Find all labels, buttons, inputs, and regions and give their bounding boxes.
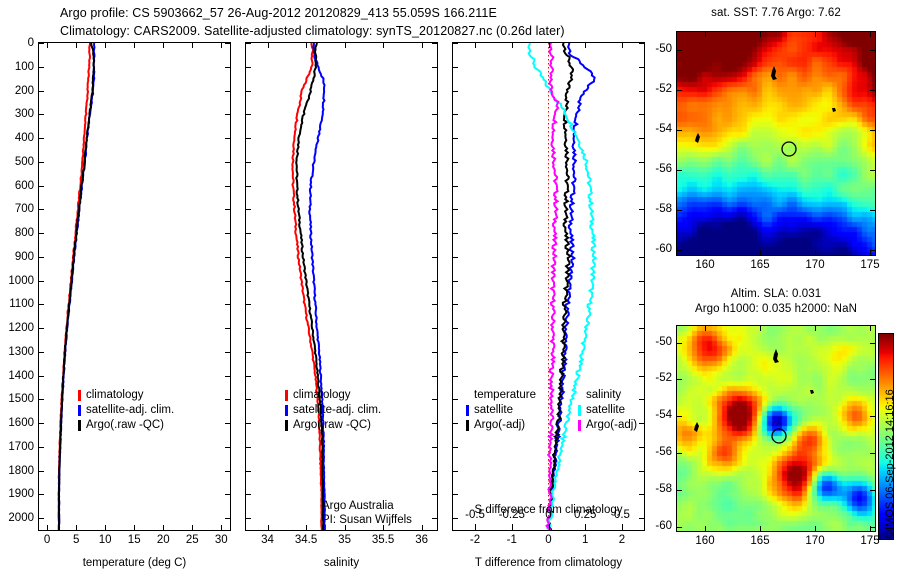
depth-tick bbox=[39, 471, 44, 472]
legend-label: climatology bbox=[293, 389, 351, 401]
sst-map-y-tick bbox=[677, 170, 682, 171]
sla-map-x-label: 170 bbox=[790, 535, 840, 547]
sla-map-x-tick bbox=[815, 326, 816, 331]
sla-map-x-tick bbox=[760, 526, 761, 531]
axis-tick-top bbox=[475, 43, 476, 48]
depth-tick bbox=[246, 114, 251, 115]
sst-map-y-tick bbox=[677, 210, 682, 211]
sst-map-y-label: -54 bbox=[644, 123, 672, 135]
depth-tick bbox=[453, 518, 458, 519]
sst-map-x-tick bbox=[815, 32, 816, 37]
depth-tick bbox=[246, 471, 251, 472]
sst-map-x-tick bbox=[705, 32, 706, 37]
depth-tick bbox=[432, 209, 437, 210]
axis-tick-top bbox=[105, 43, 106, 48]
depth-tick-label: 1800 bbox=[0, 465, 34, 477]
depth-tick bbox=[639, 494, 644, 495]
axis-tick-top bbox=[76, 43, 77, 48]
depth-tick-label: 100 bbox=[0, 61, 34, 73]
depth-tick bbox=[246, 423, 251, 424]
depth-tick bbox=[639, 304, 644, 305]
sla-map-y-label: -56 bbox=[644, 446, 672, 458]
depth-tick bbox=[432, 399, 437, 400]
depth-tick bbox=[432, 518, 437, 519]
figure-title-line1: Argo profile: CS 5903662_57 26-Aug-2012 … bbox=[60, 6, 497, 20]
salinity-axis-title: salinity bbox=[245, 558, 438, 569]
legend-label: Argo(.raw -QC) bbox=[86, 419, 164, 431]
depth-tick bbox=[453, 91, 458, 92]
depth-tick bbox=[453, 281, 458, 282]
depth-tick bbox=[246, 91, 251, 92]
legend-swatch bbox=[78, 420, 81, 431]
sla-map-y-tick bbox=[677, 453, 682, 454]
sla-map-y-tick bbox=[677, 343, 682, 344]
depth-tick bbox=[246, 209, 251, 210]
legend-swatch bbox=[285, 420, 288, 431]
sst-map-y-label: -56 bbox=[644, 163, 672, 175]
sst-map-y-label: -52 bbox=[644, 83, 672, 95]
depth-tick-label: 1500 bbox=[0, 393, 34, 405]
sst-map-y-tick bbox=[677, 250, 682, 251]
sla-map-x-tick bbox=[705, 526, 706, 531]
legend-header-salinity: salinity bbox=[586, 389, 621, 401]
depth-tick bbox=[453, 399, 458, 400]
depth-tick bbox=[453, 186, 458, 187]
legend-swatch bbox=[466, 420, 469, 431]
sla-map-y-tick bbox=[677, 527, 682, 528]
depth-tick bbox=[39, 494, 44, 495]
depth-tick bbox=[246, 43, 251, 44]
depth-tick bbox=[225, 328, 230, 329]
depth-tick bbox=[225, 447, 230, 448]
depth-tick bbox=[639, 423, 644, 424]
sst-map-y-tick bbox=[677, 50, 682, 51]
legend-label: Argo(-adj) bbox=[586, 419, 637, 431]
depth-tick bbox=[246, 304, 251, 305]
depth-tick-label: 0 bbox=[0, 37, 34, 49]
sst-map-y-label: -58 bbox=[644, 203, 672, 215]
depth-tick bbox=[639, 91, 644, 92]
legend-header-temperature: temperature bbox=[474, 389, 536, 401]
depth-tick bbox=[432, 471, 437, 472]
depth-tick bbox=[225, 304, 230, 305]
sst-map-x-label: 175 bbox=[845, 259, 895, 271]
series-temperature-climatology bbox=[59, 43, 91, 530]
temperature-profile-plot bbox=[39, 43, 230, 530]
sla-map-y-label: -52 bbox=[644, 372, 672, 384]
sla-map-y-tick bbox=[870, 379, 875, 380]
legend-label: satellite-adj. clim. bbox=[86, 404, 174, 416]
t-difference-axis-tick bbox=[475, 525, 476, 530]
depth-tick bbox=[246, 281, 251, 282]
legend-label: satellite bbox=[474, 404, 513, 416]
sla-map-y-tick bbox=[677, 379, 682, 380]
sla-map[interactable] bbox=[676, 325, 876, 532]
depth-tick bbox=[225, 257, 230, 258]
depth-tick bbox=[639, 281, 644, 282]
agency-label: Argo Australia bbox=[322, 500, 394, 512]
depth-tick bbox=[453, 328, 458, 329]
sst-map-x-tick bbox=[815, 250, 816, 255]
depth-tick bbox=[432, 162, 437, 163]
sst-map-x-label: 160 bbox=[680, 259, 730, 271]
depth-tick bbox=[39, 233, 44, 234]
depth-tick bbox=[225, 186, 230, 187]
depth-tick bbox=[246, 494, 251, 495]
axis-tick-top bbox=[422, 43, 423, 48]
depth-tick bbox=[432, 67, 437, 68]
depth-tick bbox=[453, 67, 458, 68]
axis-tick-top bbox=[622, 43, 623, 48]
depth-tick bbox=[453, 257, 458, 258]
depth-tick bbox=[225, 423, 230, 424]
depth-tick bbox=[639, 67, 644, 68]
depth-tick bbox=[432, 423, 437, 424]
t-difference-axis-label: 2 bbox=[592, 534, 652, 546]
depth-tick bbox=[39, 162, 44, 163]
depth-tick-label: 1700 bbox=[0, 441, 34, 453]
salinity-axis-label: 36 bbox=[392, 534, 452, 546]
depth-tick bbox=[432, 43, 437, 44]
depth-tick bbox=[453, 423, 458, 424]
sst-map-x-tick bbox=[870, 32, 871, 37]
legend-swatch bbox=[78, 390, 81, 401]
sst-map-x-label: 165 bbox=[735, 259, 785, 271]
sla-map-y-tick bbox=[677, 490, 682, 491]
legend-swatch bbox=[578, 405, 581, 416]
series-salinity-argo-raw-qc- bbox=[296, 43, 323, 530]
depth-tick bbox=[246, 376, 251, 377]
axis-tick-top bbox=[306, 43, 307, 48]
depth-tick bbox=[39, 257, 44, 258]
legend-label: satellite bbox=[586, 404, 625, 416]
axis-tick-top bbox=[47, 43, 48, 48]
depth-tick bbox=[39, 304, 44, 305]
depth-tick-label: 1100 bbox=[0, 298, 34, 310]
depth-tick bbox=[639, 471, 644, 472]
sla-map-x-tick bbox=[760, 326, 761, 331]
depth-tick bbox=[639, 257, 644, 258]
depth-tick bbox=[225, 471, 230, 472]
legend-swatch bbox=[78, 405, 81, 416]
depth-tick-label: 1400 bbox=[0, 370, 34, 382]
depth-tick bbox=[39, 399, 44, 400]
depth-tick bbox=[453, 304, 458, 305]
depth-tick bbox=[225, 518, 230, 519]
depth-tick bbox=[225, 494, 230, 495]
temperature-axis-tick bbox=[134, 525, 135, 530]
depth-tick-label: 600 bbox=[0, 180, 34, 192]
depth-tick bbox=[225, 209, 230, 210]
sst-map-y-tick bbox=[870, 170, 875, 171]
depth-tick bbox=[432, 138, 437, 139]
depth-tick bbox=[432, 186, 437, 187]
depth-tick bbox=[39, 352, 44, 353]
depth-tick bbox=[453, 447, 458, 448]
depth-tick bbox=[453, 114, 458, 115]
temperature-axis-tick bbox=[192, 525, 193, 530]
sla-map-x-label: 165 bbox=[735, 535, 785, 547]
depth-tick bbox=[639, 447, 644, 448]
t-difference-axis-tick bbox=[549, 525, 550, 530]
sst-map-y-label: -50 bbox=[644, 43, 672, 55]
depth-tick bbox=[639, 518, 644, 519]
temperature-axis-title: temperature (deg C) bbox=[38, 558, 231, 569]
sst-map-x-tick bbox=[760, 250, 761, 255]
salinity-axis-tick bbox=[268, 525, 269, 530]
depth-tick bbox=[453, 233, 458, 234]
depth-tick bbox=[639, 209, 644, 210]
sla-map-y-label: -60 bbox=[644, 520, 672, 532]
depth-tick bbox=[639, 399, 644, 400]
axis-tick-top bbox=[512, 43, 513, 48]
sst-map-title: sat. SST: 7.76 Argo: 7.62 bbox=[671, 7, 881, 19]
sst-map-y-tick bbox=[677, 90, 682, 91]
depth-tick-label: 200 bbox=[0, 85, 34, 97]
depth-tick bbox=[246, 447, 251, 448]
depth-tick bbox=[432, 91, 437, 92]
depth-tick-label: 1200 bbox=[0, 322, 34, 334]
depth-tick bbox=[432, 233, 437, 234]
legend-label: Argo(.raw -QC) bbox=[293, 419, 371, 431]
sst-map[interactable] bbox=[676, 31, 876, 256]
depth-tick bbox=[639, 162, 644, 163]
depth-tick bbox=[432, 376, 437, 377]
salinity-axis-tick bbox=[422, 525, 423, 530]
depth-tick-label: 1300 bbox=[0, 346, 34, 358]
depth-tick bbox=[39, 518, 44, 519]
difference-panel bbox=[452, 42, 645, 531]
legend-label: climatology bbox=[86, 389, 144, 401]
depth-tick bbox=[453, 376, 458, 377]
axis-tick-top bbox=[345, 43, 346, 48]
depth-tick bbox=[225, 162, 230, 163]
depth-tick bbox=[432, 494, 437, 495]
depth-tick bbox=[225, 114, 230, 115]
temperature-panel bbox=[38, 42, 231, 531]
sla-map-y-tick bbox=[870, 343, 875, 344]
depth-tick bbox=[225, 281, 230, 282]
depth-tick bbox=[225, 352, 230, 353]
legend-swatch bbox=[466, 405, 469, 416]
depth-tick bbox=[453, 138, 458, 139]
sla-map-x-tick bbox=[870, 326, 871, 331]
depth-tick bbox=[246, 328, 251, 329]
depth-tick bbox=[39, 447, 44, 448]
depth-tick bbox=[246, 399, 251, 400]
depth-tick bbox=[639, 138, 644, 139]
sst-map-canvas bbox=[677, 32, 876, 256]
depth-tick bbox=[432, 447, 437, 448]
legend-swatch bbox=[578, 420, 581, 431]
depth-tick bbox=[246, 233, 251, 234]
salinity-profile-plot bbox=[246, 43, 437, 530]
axis-tick-top bbox=[585, 43, 586, 48]
depth-tick bbox=[639, 328, 644, 329]
axis-tick-top bbox=[192, 43, 193, 48]
legend-label: Argo(-adj) bbox=[474, 419, 525, 431]
depth-tick-label: 800 bbox=[0, 227, 34, 239]
depth-tick-label: 300 bbox=[0, 108, 34, 120]
depth-tick bbox=[225, 67, 230, 68]
depth-tick bbox=[39, 114, 44, 115]
series-temperature-argo-raw-qc- bbox=[59, 43, 94, 530]
depth-tick bbox=[639, 43, 644, 44]
temperature-axis-tick bbox=[47, 525, 48, 530]
depth-tick-label: 700 bbox=[0, 203, 34, 215]
depth-tick bbox=[432, 114, 437, 115]
depth-tick bbox=[225, 43, 230, 44]
depth-tick bbox=[39, 138, 44, 139]
figure-title-line2: Climatology: CARS2009. Satellite-adjuste… bbox=[60, 24, 565, 38]
t-difference-axis-title: T difference from climatology bbox=[452, 558, 645, 569]
depth-tick bbox=[639, 186, 644, 187]
sst-map-y-tick bbox=[870, 210, 875, 211]
depth-tick bbox=[246, 138, 251, 139]
sst-map-y-tick bbox=[677, 130, 682, 131]
temperature-axis-tick bbox=[163, 525, 164, 530]
sst-map-y-tick bbox=[870, 90, 875, 91]
depth-tick bbox=[453, 162, 458, 163]
depth-tick bbox=[639, 233, 644, 234]
sst-map-y-tick bbox=[870, 130, 875, 131]
depth-tick bbox=[432, 257, 437, 258]
depth-tick bbox=[246, 186, 251, 187]
depth-tick bbox=[225, 91, 230, 92]
series-s-difference-satellite bbox=[528, 43, 595, 530]
sst-map-x-label: 170 bbox=[790, 259, 840, 271]
temperature-axis-tick bbox=[105, 525, 106, 530]
depth-tick bbox=[39, 376, 44, 377]
depth-tick-label: 1900 bbox=[0, 488, 34, 500]
sst-map-y-label: -60 bbox=[644, 243, 672, 255]
salinity-panel bbox=[245, 42, 438, 531]
depth-tick bbox=[225, 138, 230, 139]
sla-map-y-tick bbox=[870, 527, 875, 528]
salinity-axis-tick bbox=[306, 525, 307, 530]
depth-tick bbox=[246, 257, 251, 258]
t-difference-axis-tick bbox=[512, 525, 513, 530]
pi-label: PI: Susan Wijffels bbox=[322, 514, 412, 526]
sla-map-y-label: -58 bbox=[644, 483, 672, 495]
depth-tick bbox=[39, 423, 44, 424]
legend-label: satellite-adj. clim. bbox=[293, 404, 381, 416]
sla-map-title-line2: Argo h1000: 0.035 h2000: NaN bbox=[661, 303, 891, 315]
axis-tick-top bbox=[549, 43, 550, 48]
t-difference-axis-tick bbox=[622, 525, 623, 530]
temperature-axis-tick bbox=[76, 525, 77, 530]
legend-swatch bbox=[285, 405, 288, 416]
depth-tick bbox=[453, 471, 458, 472]
sla-map-y-tick bbox=[870, 416, 875, 417]
depth-tick bbox=[39, 67, 44, 68]
depth-tick-label: 900 bbox=[0, 251, 34, 263]
figure-root: Argo profile: CS 5903662_57 26-Aug-2012 … bbox=[0, 0, 900, 580]
depth-tick bbox=[432, 304, 437, 305]
depth-tick bbox=[39, 43, 44, 44]
depth-tick bbox=[39, 186, 44, 187]
axis-tick-top bbox=[134, 43, 135, 48]
depth-tick bbox=[432, 328, 437, 329]
depth-tick bbox=[39, 91, 44, 92]
sla-map-canvas bbox=[677, 326, 876, 532]
axis-tick-top bbox=[268, 43, 269, 48]
sla-map-y-label: -54 bbox=[644, 409, 672, 421]
sla-map-title-line1: Altim. SLA: 0.031 bbox=[671, 288, 881, 300]
depth-tick bbox=[432, 352, 437, 353]
depth-tick bbox=[432, 281, 437, 282]
axis-tick-top bbox=[163, 43, 164, 48]
sla-map-x-label: 160 bbox=[680, 535, 730, 547]
sst-map-y-tick bbox=[870, 250, 875, 251]
temperature-axis-tick bbox=[221, 525, 222, 530]
depth-tick-label: 2000 bbox=[0, 512, 34, 524]
depth-tick bbox=[639, 376, 644, 377]
depth-tick bbox=[39, 281, 44, 282]
depth-tick bbox=[453, 43, 458, 44]
depth-tick-label: 500 bbox=[0, 156, 34, 168]
sla-map-x-tick bbox=[815, 526, 816, 531]
depth-tick bbox=[453, 494, 458, 495]
credit-timestamp: ©IMOS 06-Sep-2012 14:16:16 bbox=[884, 389, 896, 538]
depth-tick bbox=[639, 114, 644, 115]
t-difference-axis-tick bbox=[585, 525, 586, 530]
sla-map-y-tick bbox=[677, 416, 682, 417]
depth-tick bbox=[225, 376, 230, 377]
sla-map-y-tick bbox=[870, 453, 875, 454]
sla-map-y-tick bbox=[870, 490, 875, 491]
depth-tick bbox=[453, 209, 458, 210]
depth-tick bbox=[453, 352, 458, 353]
sla-map-x-tick bbox=[705, 326, 706, 331]
difference-profile-plot bbox=[453, 43, 644, 530]
depth-tick bbox=[246, 518, 251, 519]
depth-tick bbox=[39, 209, 44, 210]
depth-tick bbox=[639, 352, 644, 353]
depth-tick bbox=[225, 399, 230, 400]
sst-map-x-tick bbox=[760, 32, 761, 37]
depth-tick-label: 1000 bbox=[0, 275, 34, 287]
series-t-difference-argo-adj- bbox=[548, 43, 573, 530]
depth-tick bbox=[39, 328, 44, 329]
axis-tick-top bbox=[221, 43, 222, 48]
axis-tick-top bbox=[383, 43, 384, 48]
sla-map-y-label: -50 bbox=[644, 336, 672, 348]
depth-tick bbox=[225, 233, 230, 234]
depth-tick bbox=[246, 162, 251, 163]
depth-tick bbox=[246, 352, 251, 353]
sst-map-x-tick bbox=[705, 250, 706, 255]
depth-tick-label: 400 bbox=[0, 132, 34, 144]
sst-map-y-tick bbox=[870, 50, 875, 51]
depth-tick bbox=[246, 67, 251, 68]
depth-tick-label: 1600 bbox=[0, 417, 34, 429]
legend-swatch bbox=[285, 390, 288, 401]
s-difference-axis-title: S difference from climatology bbox=[452, 505, 645, 516]
